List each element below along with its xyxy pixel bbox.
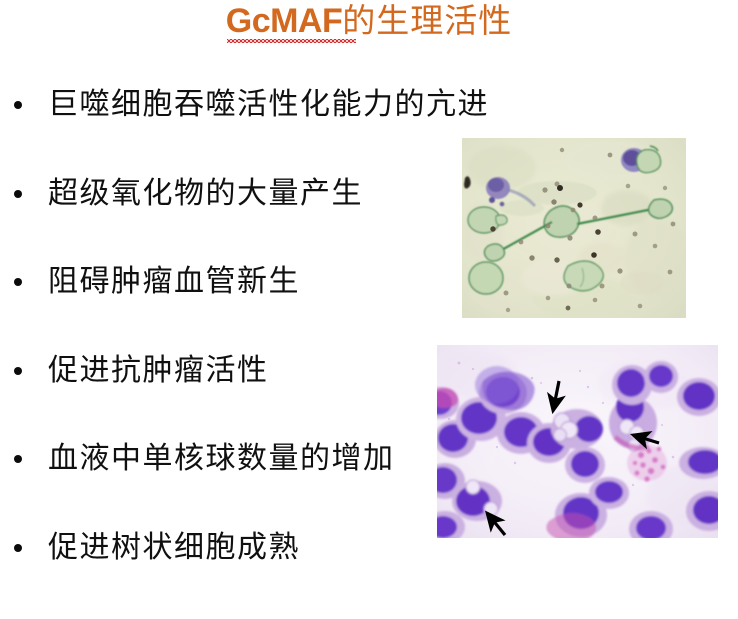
list-item-label: 阻碍肿瘤血管新生 (48, 264, 300, 299)
list-item-label: 巨噬细胞吞噬活性化能力的亢进 (48, 87, 489, 122)
list-item: 阻碍肿瘤血管新生 (0, 265, 440, 354)
macrophage-micrograph-svg (462, 138, 686, 318)
page-title: GcMAF的生理活性 (0, 4, 738, 38)
list-item: 超级氧化物的大量产生 (0, 177, 440, 266)
bullet-dot-icon (14, 544, 22, 552)
list-item-label: 促进树状细胞成熟 (48, 530, 300, 565)
bullet-dot-icon (14, 367, 22, 375)
list-item-label: 促进抗肿瘤活性 (48, 353, 269, 388)
monocyte-micrograph-svg (437, 345, 718, 538)
list-item: 巨噬细胞吞噬活性化能力的亢进 (0, 88, 440, 177)
bullet-dot-icon (14, 190, 22, 198)
macrophage-micrograph-image (462, 138, 686, 318)
bullet-dot-icon (14, 455, 22, 463)
list-item: 血液中单核球数量的增加 (0, 442, 440, 531)
list-item-label: 血液中单核球数量的增加 (48, 441, 395, 476)
list-item: 促进树状细胞成熟 (0, 531, 440, 619)
list-item: 促进抗肿瘤活性 (0, 354, 440, 443)
page-title-latin: GcMAF (226, 4, 343, 38)
page-title-cjk: 的生理活性 (342, 4, 512, 37)
list-item-label: 超级氧化物的大量产生 (48, 176, 363, 211)
bullet-dot-icon (14, 278, 22, 286)
monocyte-micrograph-image (437, 345, 718, 538)
bullet-dot-icon (14, 101, 22, 109)
bullet-list: 巨噬细胞吞噬活性化能力的亢进 超级氧化物的大量产生 阻碍肿瘤血管新生 促进抗肿瘤… (0, 88, 440, 619)
